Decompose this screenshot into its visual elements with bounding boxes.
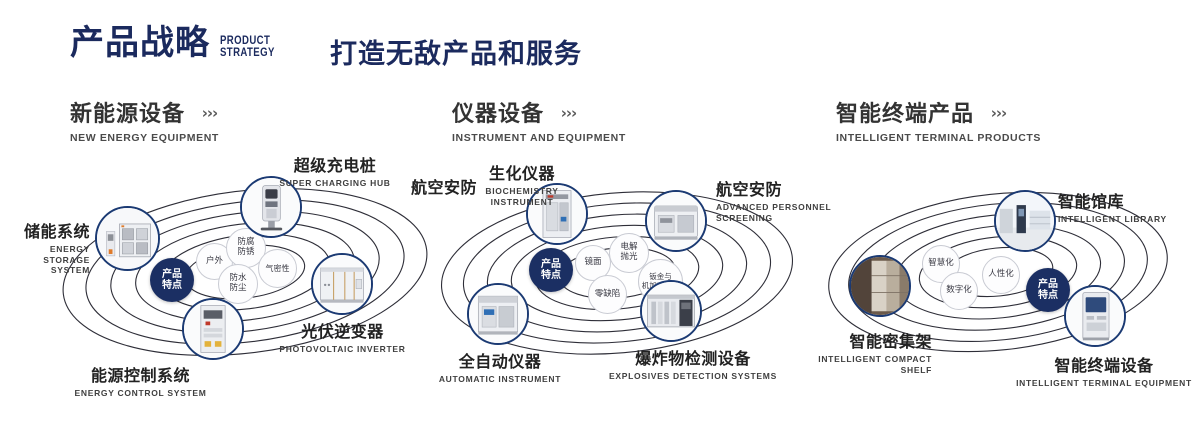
caption-en-line2: SYSTEM — [2, 265, 90, 276]
caption-cn: 航空安防 — [411, 174, 501, 198]
bubble-label: 户外 — [206, 257, 223, 267]
chevrons-right-icon: ››› — [991, 104, 1007, 122]
caption-en: PHOTOVOLTAIC INVERTER — [255, 344, 430, 355]
bubble-label: 人性化 — [988, 270, 1014, 280]
caption-energy-control-system: 能源控制系统 ENERGY CONTROL SYSTEM — [48, 362, 233, 399]
product-node-advanced-personnel-screening[interactable] — [645, 190, 707, 252]
bubble-label-line2: 抛光 — [620, 253, 637, 263]
caption-en-line1: AUTOMATIC INSTRUMENT — [420, 374, 580, 385]
chevrons-right-icon: ››› — [202, 104, 218, 122]
section-title-intelligent-terminal: 智能终端产品 ››› — [836, 96, 1041, 128]
section-title-text: 仪器设备 — [452, 102, 544, 127]
caption-en: ENERGY STORAGE SYSTEM — [2, 244, 90, 276]
section-subtitle-instrument: INSTRUMENT AND EQUIPMENT — [452, 132, 626, 144]
photovoltaic-inverter-icon — [313, 255, 371, 313]
caption-aviation-security-left: 航空安防 — [411, 174, 501, 198]
caption-intelligent-compact-shelf: 智能密集架 INTELLIGENT COMPACT SHELF — [790, 328, 932, 375]
caption-en: SUPER CHARGING HUB — [250, 178, 420, 189]
product-node-photovoltaic-inverter[interactable] — [311, 253, 373, 315]
intelligent-library-icon — [996, 192, 1054, 250]
feature-badge-product-traits-3: 产品 特点 — [1026, 268, 1070, 312]
poster-canvas: 产品战略 PRODUCT STRATEGY 打造无敌产品和服务 新能源设备 ››… — [0, 0, 1200, 422]
badge-line2: 特点 — [162, 280, 182, 292]
bubble-label: 零缺陷 — [595, 290, 621, 300]
caption-intelligent-terminal-equipment: 智能终端设备 INTELLIGENT TERMINAL EQUIPMENT — [1012, 352, 1196, 389]
caption-en-line1: ENERGY STORAGE — [2, 244, 90, 265]
feature-bubble-waterproof-dustproof: 防水 防尘 — [218, 264, 258, 304]
caption-cn: 智能终端设备 — [1012, 352, 1196, 376]
bubble-label-line2: 防锈 — [237, 248, 254, 258]
feature-bubble-zero-defect: 零缺陷 — [588, 275, 627, 314]
badge-line1: 产品 — [541, 259, 561, 271]
caption-en: INTELLIGENT TERMINAL EQUIPMENT — [1012, 378, 1196, 389]
caption-en-line1: PHOTOVOLTAIC INVERTER — [255, 344, 430, 355]
bubble-label-line2: 防尘 — [229, 284, 246, 294]
compact-shelf-icon — [851, 257, 909, 315]
section-title-instrument: 仪器设备 ››› — [452, 96, 626, 128]
bubble-label: 镜面 — [584, 258, 601, 268]
caption-cn: 全自动仪器 — [420, 348, 580, 372]
badge-line1: 产品 — [162, 269, 182, 281]
caption-photovoltaic-inverter: 光伏逆变器 PHOTOVOLTAIC INVERTER — [255, 318, 430, 355]
caption-en: INTELLIGENT LIBRARY — [1058, 214, 1198, 225]
caption-en: AUTOMATIC INSTRUMENT — [420, 374, 580, 385]
badge-line2: 特点 — [541, 270, 561, 282]
product-node-explosives-detection-systems[interactable] — [640, 280, 702, 342]
caption-cn: 光伏逆变器 — [255, 318, 430, 342]
caption-en-line1: EXPLOSIVES DETECTION SYSTEMS — [603, 371, 783, 382]
caption-cn: 储能系统 — [2, 218, 90, 242]
page-title-english-line2: STRATEGY — [220, 46, 275, 58]
product-node-intelligent-terminal-equipment[interactable] — [1064, 285, 1126, 347]
caption-automatic-instrument: 全自动仪器 AUTOMATIC INSTRUMENT — [420, 348, 580, 385]
product-node-intelligent-compact-shelf[interactable] — [849, 255, 911, 317]
automatic-instrument-icon — [469, 285, 527, 343]
caption-en-line2: SHELF — [790, 365, 932, 376]
product-node-automatic-instrument[interactable] — [467, 283, 529, 345]
badge-line1: 产品 — [1038, 279, 1058, 291]
caption-en: INTELLIGENT COMPACT SHELF — [790, 354, 932, 375]
caption-en-line1: ENERGY CONTROL SYSTEM — [48, 388, 233, 399]
section-subtitle-new-energy: NEW ENERGY EQUIPMENT — [70, 132, 219, 144]
caption-cn: 爆炸物检测设备 — [603, 345, 783, 369]
caption-en-line1: SUPER CHARGING HUB — [250, 178, 420, 189]
caption-en: EXPLOSIVES DETECTION SYSTEMS — [603, 371, 783, 382]
badge-line2: 特点 — [1038, 290, 1058, 302]
section-subtitle-intelligent-terminal: INTELLIGENT TERMINAL PRODUCTS — [836, 132, 1041, 144]
product-node-energy-control-system[interactable] — [182, 298, 244, 360]
section-heading-instrument: 仪器设备 ››› INSTRUMENT AND EQUIPMENT — [452, 96, 626, 144]
bubble-label: 气密性 — [266, 264, 290, 273]
section-title-text: 新能源设备 — [70, 102, 185, 127]
bubble-label: 智慧化 — [928, 259, 954, 269]
page-title: 产品战略 — [70, 26, 210, 60]
section-title-new-energy: 新能源设备 ››› — [70, 96, 219, 128]
section-heading-intelligent-terminal: 智能终端产品 ››› INTELLIGENT TERMINAL PRODUCTS — [836, 96, 1041, 144]
product-node-intelligent-library[interactable] — [994, 190, 1056, 252]
caption-explosives-detection-systems: 爆炸物检测设备 EXPLOSIVES DETECTION SYSTEMS — [603, 345, 783, 382]
caption-energy-storage-system: 储能系统 ENERGY STORAGE SYSTEM — [2, 218, 90, 276]
feature-badge-product-traits-2: 产品 特点 — [529, 248, 573, 292]
feature-bubble-digital: 数字化 — [940, 272, 978, 310]
product-node-energy-storage-system[interactable] — [95, 206, 160, 271]
chevrons-right-icon: ››› — [561, 104, 577, 122]
caption-cn: 智能馆库 — [1058, 188, 1198, 212]
caption-intelligent-library: 智能馆库 INTELLIGENT LIBRARY — [1058, 188, 1198, 225]
poster-header: 产品战略 PRODUCT STRATEGY — [70, 26, 288, 60]
caption-en-line1: INTELLIGENT COMPACT — [790, 354, 932, 365]
caption-en: ENERGY CONTROL SYSTEM — [48, 388, 233, 399]
security-scanner-icon — [647, 192, 705, 250]
caption-en-line1: INTELLIGENT TERMINAL EQUIPMENT — [1012, 378, 1196, 389]
section-title-text: 智能终端产品 — [836, 102, 974, 127]
page-subtitle: 打造无敌产品和服务 — [330, 32, 582, 71]
energy-storage-cabinet-icon — [97, 208, 158, 269]
bubble-label: 数字化 — [946, 286, 972, 296]
caption-en-line2: INSTRUMENT — [452, 197, 592, 208]
terminal-kiosk-icon — [1066, 287, 1124, 345]
caption-cn: 能源控制系统 — [48, 362, 233, 386]
caption-cn: 智能密集架 — [790, 328, 932, 352]
feature-bubble-airtightness: 气密性 — [258, 249, 297, 288]
caption-super-charging-hub: 超级充电桩 SUPER CHARGING HUB — [250, 152, 420, 189]
feature-bubble-humanized: 人性化 — [982, 256, 1020, 294]
energy-control-cabinet-icon — [184, 300, 242, 358]
section-heading-new-energy: 新能源设备 ››› NEW ENERGY EQUIPMENT — [70, 96, 219, 144]
caption-cn: 超级充电桩 — [250, 152, 420, 176]
caption-en-line1: INTELLIGENT LIBRARY — [1058, 214, 1198, 225]
page-title-english: PRODUCT STRATEGY — [220, 34, 275, 58]
explosives-detector-icon — [642, 282, 700, 340]
